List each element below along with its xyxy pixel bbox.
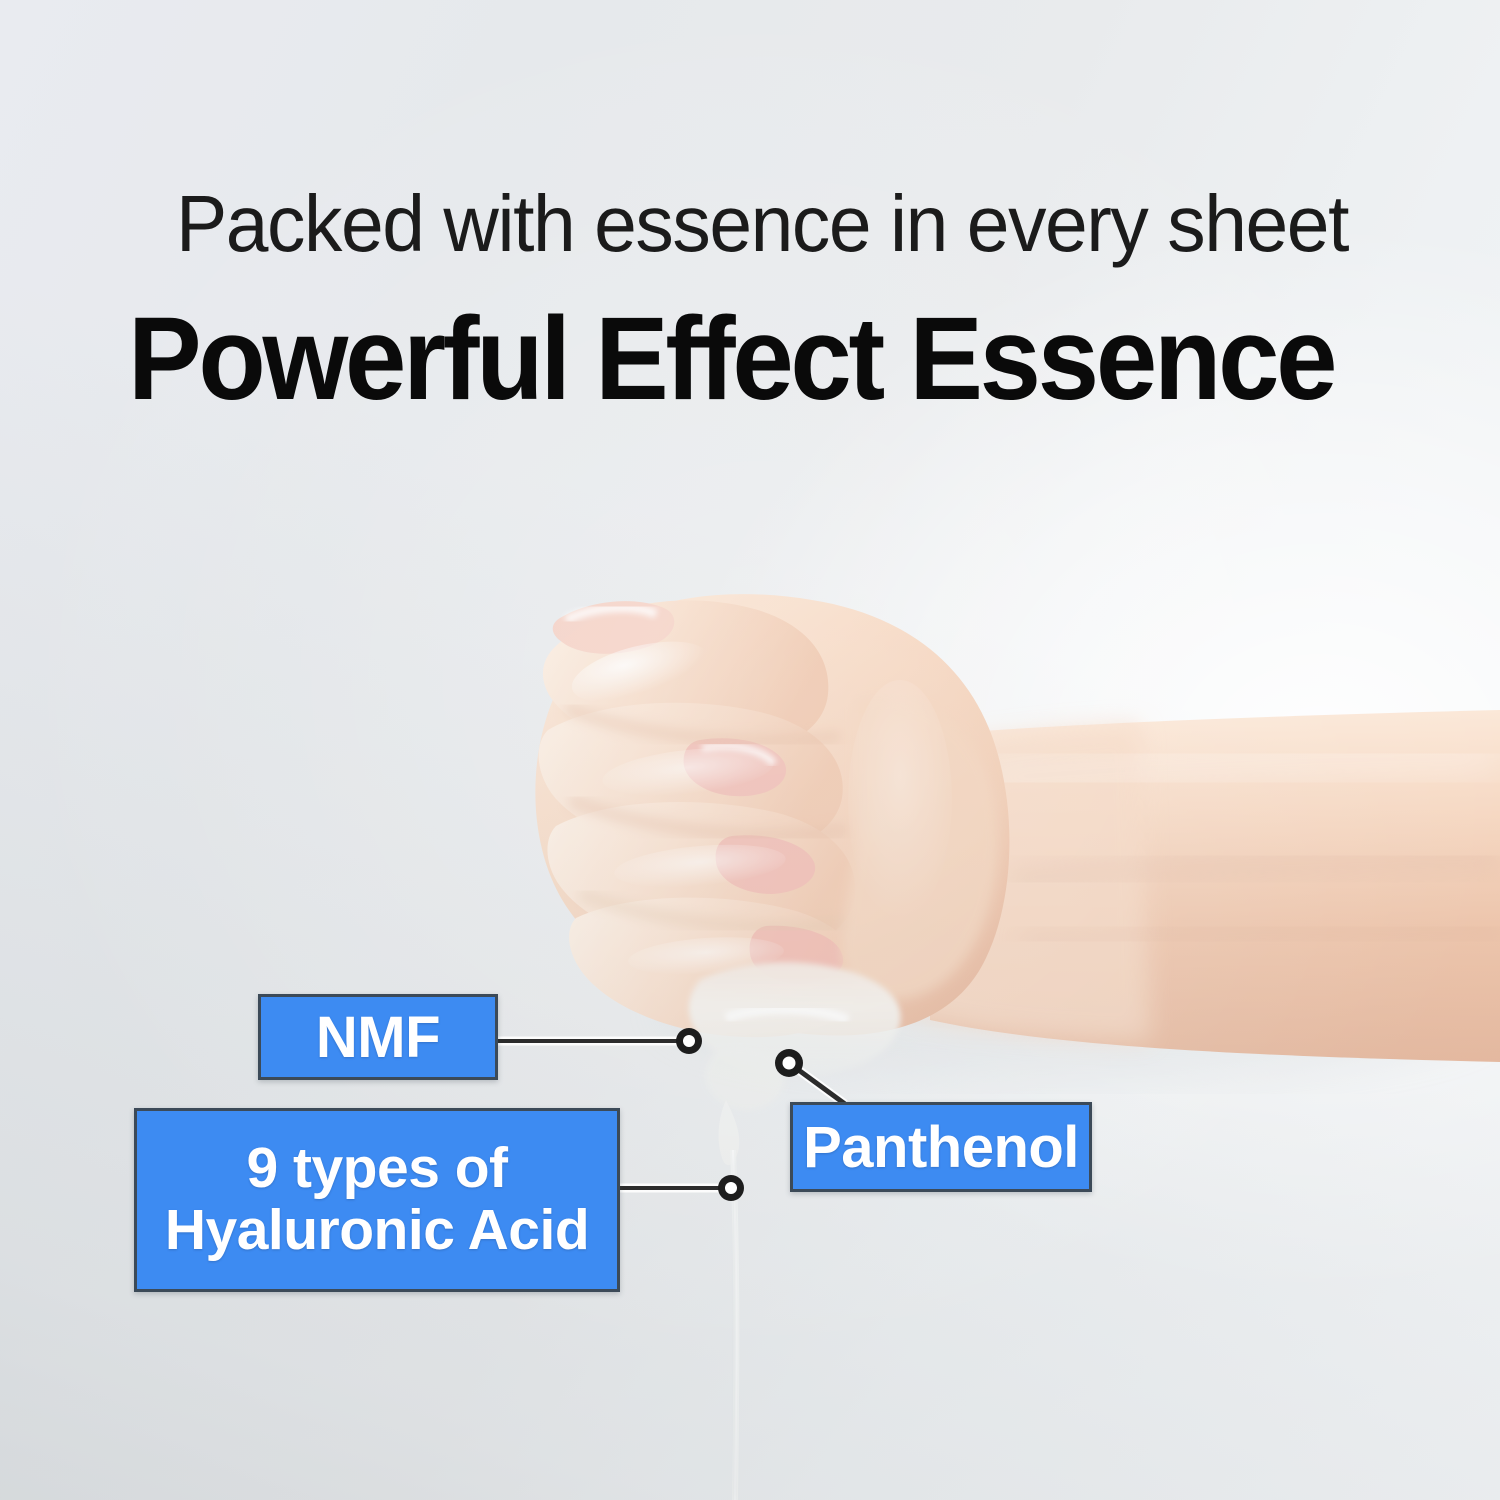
callout-label-panthenol[interactable]: Panthenol bbox=[790, 1102, 1092, 1192]
marker-dot-panthenol bbox=[775, 1049, 803, 1077]
page-title: Powerful Effect Essence bbox=[128, 300, 1362, 418]
callout-text-panthenol: Panthenol bbox=[803, 1114, 1079, 1181]
callout-label-nmf[interactable]: NMF bbox=[258, 994, 498, 1080]
callout-label-hyaluronic-acid[interactable]: 9 types of Hyaluronic Acid bbox=[134, 1108, 620, 1292]
marker-dot-hyaluronic-acid bbox=[718, 1175, 744, 1201]
product-marketing-image: Packed with essence in every sheet Power… bbox=[0, 0, 1500, 1500]
callout-text-hyaluronic-acid-line2: Hyaluronic Acid bbox=[165, 1200, 589, 1262]
marker-dot-nmf bbox=[676, 1028, 702, 1054]
callout-text-hyaluronic-acid-line1: 9 types of bbox=[246, 1138, 507, 1200]
callout-text-nmf: NMF bbox=[316, 1004, 440, 1071]
connector-line-panthenol bbox=[789, 1063, 845, 1104]
subtitle-text: Packed with essence in every sheet bbox=[176, 182, 1328, 266]
